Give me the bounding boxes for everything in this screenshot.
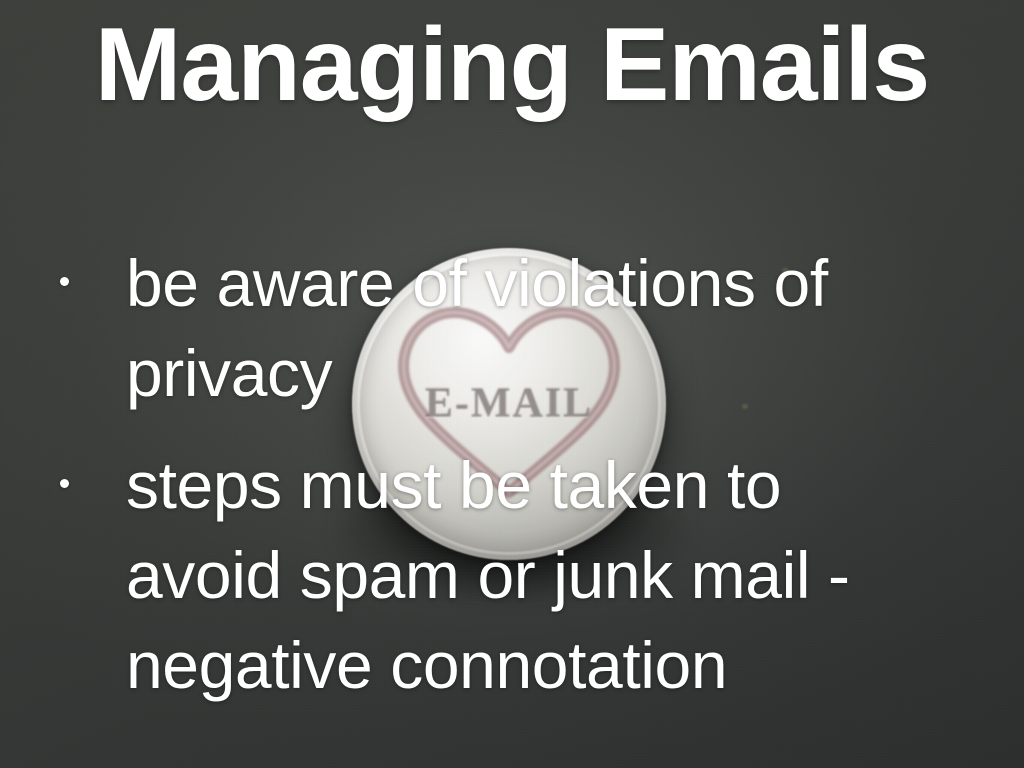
slide-content: Managing Emails be aware of violations o… [0,0,1024,768]
slide-title: Managing Emails [0,13,1024,117]
bullet-marker-icon [60,479,69,488]
bullet-marker-icon [60,277,69,286]
bullet-text: be aware of violations of privacy [126,238,916,418]
bullet-text: steps must be taken to avoid spam or jun… [126,440,916,710]
bullet-list: be aware of violations of privacy steps … [0,238,1024,732]
list-item: steps must be taken to avoid spam or jun… [0,440,1024,710]
list-item: be aware of violations of privacy [0,238,1024,418]
presentation-slide: E-MAIL Managing Emails be aware of viola… [0,0,1024,768]
